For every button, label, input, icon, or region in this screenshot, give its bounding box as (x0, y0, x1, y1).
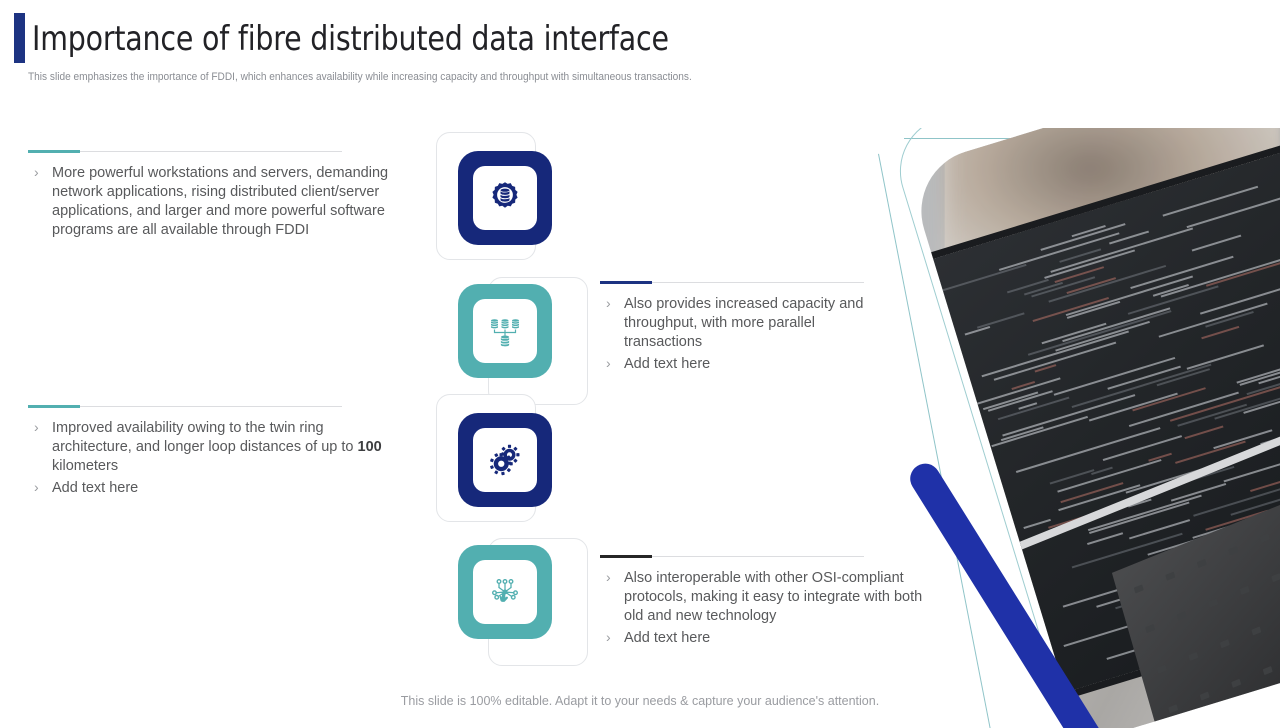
bullet-chevron-icon: › (34, 163, 39, 182)
icon-card[interactable] (458, 413, 552, 507)
code-line (943, 264, 1027, 291)
keyboard-key (1157, 664, 1167, 673)
bullet-chevron-icon: › (606, 294, 611, 313)
code-line (1161, 256, 1280, 297)
bullet-text: Add text here (624, 630, 710, 646)
text-block-right-middle: ›Also provides increased capacity and th… (600, 277, 870, 377)
keyboard-key (1220, 639, 1230, 648)
accent-rule-faint (652, 282, 864, 283)
code-line (1000, 232, 1120, 270)
accent-rule-strong (600, 555, 652, 558)
keyboard-key (1166, 571, 1176, 580)
bullet-chevron-icon: › (34, 478, 39, 497)
distributed-database-icon (487, 313, 523, 349)
accent-rule-faint (80, 406, 342, 407)
keyboard-key (1229, 546, 1239, 555)
page-subtitle: This slide emphasizes the importance of … (28, 71, 692, 83)
code-line (1054, 357, 1176, 396)
code-line (1029, 311, 1172, 356)
code-line (1066, 275, 1194, 316)
bullet-list: ›More powerful workstations and servers,… (28, 164, 408, 240)
text-block-left-top: ›More powerful workstations and servers,… (28, 146, 408, 243)
bullet-item: ›Also provides increased capacity and th… (600, 295, 870, 352)
keyboard-key (1146, 624, 1156, 633)
keyboard-key (1260, 533, 1270, 542)
icon-card-column (436, 132, 588, 667)
bullet-chevron-icon: › (606, 568, 611, 587)
photo-content (945, 128, 1280, 728)
page-title: Importance of fibre distributed data int… (32, 19, 669, 59)
code-line (1130, 520, 1191, 540)
code-line (977, 312, 1025, 328)
code-line (1072, 364, 1212, 408)
keyboard-key (1240, 586, 1250, 595)
bullet-list: ›Also provides increased capacity and th… (600, 295, 870, 374)
footer-note: This slide is 100% editable. Adapt it to… (0, 694, 1280, 708)
code-line (1041, 223, 1126, 251)
dual-gears-icon (487, 442, 523, 478)
network-touch-icon (487, 574, 523, 610)
icon-card[interactable] (458, 284, 552, 378)
code-line (995, 342, 1117, 381)
icon-card-slot (436, 132, 588, 272)
code-line (1185, 426, 1224, 440)
accent-rule (28, 146, 408, 157)
keyboard-key (1197, 559, 1207, 568)
photo-mask (906, 128, 1280, 728)
bullet-item: ›More powerful workstations and servers,… (28, 164, 408, 240)
code-line (1202, 326, 1240, 339)
keyboard-key (1272, 573, 1280, 582)
text-block-left-bottom: ›Improved availability owing to the twin… (28, 401, 400, 501)
icon-card[interactable] (458, 545, 552, 639)
bullet-list: ›Improved availability owing to the twin… (28, 419, 400, 498)
bullet-text: Add text here (624, 356, 710, 372)
bullet-text: Also provides increased capacity and thr… (624, 296, 863, 350)
accent-rule-faint (80, 151, 342, 152)
code-line (1172, 483, 1227, 502)
bullet-text: More powerful workstations and servers, … (52, 165, 388, 238)
laptop-coding-photo: 12 (868, 128, 1280, 728)
bullet-chevron-icon: › (606, 628, 611, 647)
bullet-text: Improved availability owing to the twin … (52, 420, 382, 474)
keyboard-key (1177, 611, 1187, 620)
bullet-chevron-icon: › (606, 354, 611, 373)
keyboard-key (1189, 651, 1199, 660)
icon-card-inner (473, 166, 537, 230)
bullet-item: ›Add text here (28, 479, 400, 498)
code-line (1067, 277, 1117, 294)
icon-card-slot (436, 265, 588, 405)
gear-database-icon (487, 180, 523, 216)
code-line (1163, 186, 1259, 217)
accent-rule-faint (652, 556, 864, 557)
accent-rule (600, 277, 870, 288)
icon-card-inner (473, 299, 537, 363)
code-line (1187, 344, 1265, 369)
code-line (1207, 246, 1280, 288)
code-line (1133, 387, 1207, 411)
accent-rule-strong (28, 150, 80, 153)
keyboard-key (1252, 626, 1262, 635)
icon-card-slot (436, 394, 588, 534)
accent-rule-strong (28, 405, 80, 408)
bullet-item: ›Add text here (600, 355, 870, 374)
keyboard-key (1209, 599, 1219, 608)
icon-card-inner (473, 428, 537, 492)
code-line (1192, 235, 1242, 252)
title-accent-bar (14, 13, 25, 63)
accent-rule (28, 401, 400, 412)
keyboard-key (1263, 666, 1273, 675)
keyboard-key (1134, 584, 1144, 593)
icon-card-inner (473, 560, 537, 624)
bullet-item: ›Improved availability owing to the twin… (28, 419, 400, 476)
accent-rule-strong (600, 281, 652, 284)
code-line (1088, 533, 1125, 546)
icon-card-slot (436, 526, 588, 666)
bullet-text: Add text here (52, 480, 138, 496)
keyboard-key (1232, 679, 1242, 688)
code-line (1103, 435, 1183, 461)
icon-card[interactable] (458, 151, 552, 245)
code-line (992, 416, 1089, 447)
bullet-chevron-icon: › (34, 418, 39, 437)
